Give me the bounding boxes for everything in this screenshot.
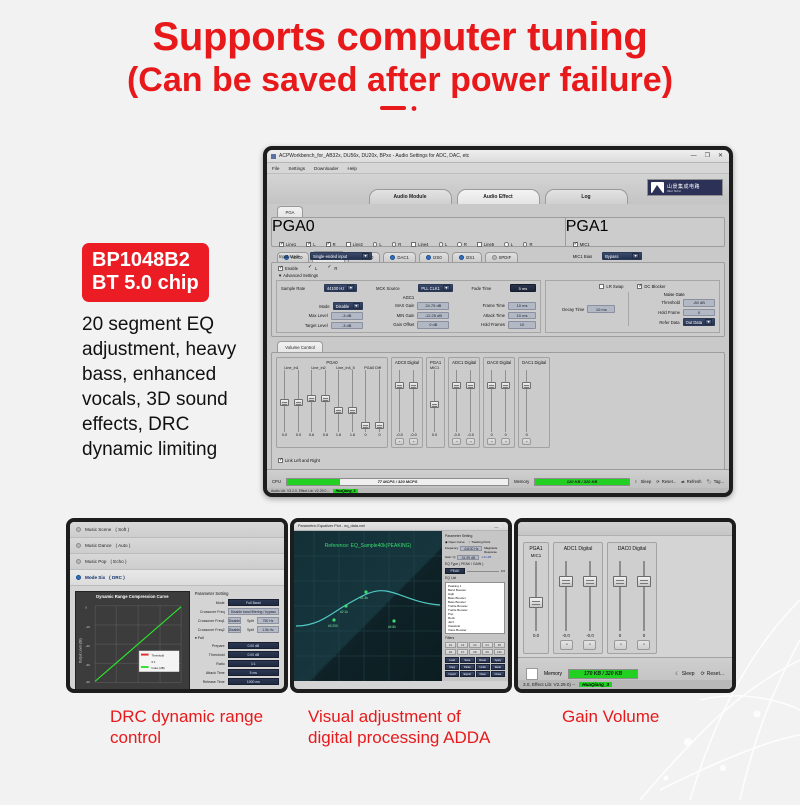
volume-slider[interactable]: 0 [522, 370, 531, 437]
checkbox-mic1[interactable]: MIC1 [573, 242, 590, 247]
status-dot-icon [76, 543, 81, 548]
chevron-down-icon: ▼ [705, 319, 712, 325]
eq-filter-cell[interactable]: F10 [494, 649, 505, 655]
max-gain-field[interactable]: 24.75 dB [417, 302, 449, 310]
gain-value: -0.0 [562, 633, 570, 638]
app-icon [271, 154, 276, 159]
eq-action-button[interactable]: Apply [491, 657, 505, 663]
slider-knob[interactable] [559, 576, 573, 587]
mute-button[interactable]: ◔ [501, 438, 510, 445]
gain-footer-tag: HuaQiang_3 [579, 682, 612, 687]
slider-knob[interactable] [395, 382, 404, 389]
headline-divider [0, 104, 800, 113]
headline-line-2: (Can be saved after power failure) [0, 60, 800, 100]
eq-action-button[interactable]: Save [460, 657, 474, 663]
max-level-field[interactable]: -3 dB [331, 312, 363, 320]
volume-slider[interactable]: 0.0 [430, 370, 439, 437]
adc1-advanced-left: Sample Rate 44100 Hz▼ MCK Source PLL CLK… [276, 280, 541, 333]
svg-text:-20: -20 [86, 644, 91, 648]
frame-time-field[interactable]: 10 ms [508, 302, 536, 310]
slider-knob[interactable] [583, 576, 597, 587]
volume-value: 1.6 [336, 433, 341, 437]
eq-action-button[interactable]: Import [445, 671, 459, 677]
chip-badge: BP1048B2 BT 5.0 chip [82, 243, 209, 302]
volume-group-title: ADC1 Digital [452, 360, 476, 365]
drc-prepare-label: Prepare [195, 644, 225, 648]
drc-crossover2-label: Crossover Freq2 [195, 628, 225, 632]
mute-button[interactable]: ◔ [466, 438, 475, 445]
radio-line4-r[interactable]: R [457, 242, 467, 247]
scene-row-3[interactable]: Music Pop( Echo ) [70, 554, 284, 570]
checkbox-dc-blocker[interactable]: DC Blocker [637, 284, 665, 289]
tab-audio-module[interactable]: Audio Module [369, 189, 452, 204]
eq-window-buttons[interactable]: — ⬜ [494, 524, 504, 529]
checkbox-line2[interactable]: Line2 [346, 242, 363, 247]
volume-slider[interactable]: -0.0 [395, 370, 404, 437]
eq-type-label: EQ Type ( PEAK / GAIN ) [445, 562, 505, 566]
thumbnail-drc[interactable]: Music Scene( Soft ) Music Dance( Auto ) … [66, 518, 288, 693]
menu-bar: File Settings Downloader Help [267, 163, 729, 174]
volume-group: ADC0 Digital -0.0-0.0◔◔ [391, 357, 423, 448]
chevron-down-icon[interactable]: ▼ [362, 253, 369, 259]
volume-control-panel: PGA0Line_in10.00.0Line_in20.60.6Line_in4… [271, 352, 725, 473]
chip-badge-line-2: BT 5.0 chip [92, 272, 199, 295]
drc-release-label: Release Time [195, 680, 225, 684]
input-mode-label: Input Mode [279, 254, 300, 259]
drc-release-field[interactable]: 1000 ms [228, 678, 279, 685]
mountain-icon [651, 182, 664, 193]
checkbox-line4[interactable]: Line4 [411, 242, 428, 247]
volume-slider[interactable]: 0.6 [307, 370, 316, 437]
eq-preset-item[interactable]: High [448, 632, 502, 634]
gain-value: 0.0 [533, 633, 539, 638]
gain-group-sub: MIC1 [529, 553, 543, 558]
volume-value: -0.0 [467, 433, 474, 437]
volume-group: ADC1 Digital -0.0-0.0◔◔ [448, 357, 480, 448]
drc-ratio-field[interactable]: 1:1 [228, 660, 279, 667]
volume-group: PGA1MIC10.0 [426, 357, 445, 448]
gain-status-swatch [526, 668, 538, 680]
frame-time-label: Frame Time [483, 303, 505, 308]
attack-time-label: Attack Time [483, 313, 505, 318]
slider-knob[interactable] [280, 399, 289, 406]
svg-text:#1 3k: #1 3k [360, 596, 368, 600]
checkbox-link-left-right[interactable]: Link Left and Right [278, 458, 320, 463]
eq-open-curve-radio[interactable]: ◉ Open Curve [445, 540, 465, 544]
tag-button[interactable]: 🏷Tag... [706, 479, 724, 485]
sleep-button[interactable]: ☾Sleep [635, 479, 651, 484]
radio-line5-r[interactable]: R [523, 242, 533, 247]
volume-slider[interactable]: -0.0 [466, 370, 475, 437]
volume-value: 0 [364, 433, 366, 437]
mute-button[interactable]: ◔ [560, 640, 573, 650]
svg-text:-40: -40 [86, 680, 91, 684]
slider-knob[interactable] [522, 382, 531, 389]
thumbnail-eq[interactable]: Parametric Equalizer Plot - eq_data.xml … [290, 518, 512, 693]
min-gain-field[interactable]: -12.25 dB [417, 312, 449, 320]
sample-rate-select[interactable]: 44100 Hz▼ [324, 284, 358, 292]
slider-knob[interactable] [348, 407, 357, 414]
eq-frequency-field[interactable]: 44100 Hz [460, 546, 482, 551]
refresh-button[interactable]: ⇄Refresh [681, 479, 701, 484]
pga1-group-label: PGA1 [566, 218, 724, 236]
volume-slider[interactable]: 0.0 [280, 370, 289, 437]
gain-slider[interactable]: 0.0 [529, 561, 543, 638]
mute-button[interactable]: ◔ [395, 438, 404, 445]
gain-memory-text: 170 KB / 320 KB [569, 671, 637, 677]
volume-group-title: PGA0 [280, 360, 384, 365]
volume-value: 0.6 [323, 433, 328, 437]
threshold-field[interactable]: -80 dB [683, 299, 715, 307]
slider-knob[interactable] [487, 382, 496, 389]
sample-rate-label: Sample Rate [281, 286, 305, 291]
headline-block: Supports computer tuning (Can be saved a… [0, 14, 800, 113]
mic1-bias-select[interactable]: Bypass ▼ [602, 252, 642, 260]
tag-icon: 🏷 [706, 479, 711, 485]
acpworkbench-window: ACPWorkbench_for_AB32x, DU56x, DU20x, BP… [263, 146, 733, 497]
svg-text:Reference: EQ_Sample40k(PEAKIN: Reference: EQ_Sample40k(PEAKING) [325, 543, 412, 549]
mute-button[interactable]: ◔ [614, 640, 627, 650]
eq-frequency-response-plot[interactable]: Reference: EQ_Sample40k(PEAKING) #1 3k#2… [294, 531, 442, 681]
mute-button[interactable]: ◔ [487, 438, 496, 445]
eq-preset-list[interactable]: Peaking 1Band BoosterHighBass BoosterBas… [445, 582, 505, 634]
minimize-button[interactable]: — [691, 153, 697, 159]
refer-data-label: Refer Data [659, 320, 679, 325]
gain-offset-label: Gain Offset [393, 322, 414, 327]
status-dot-icon [76, 527, 81, 532]
drc-crossover-field[interactable]: Disable band filtering / bypass [228, 608, 279, 615]
gain-slider[interactable]: 0 [613, 561, 627, 638]
gain-reset-button[interactable]: ⟳Reset... [701, 671, 724, 677]
checkbox-line5[interactable]: Line5 [477, 242, 494, 247]
attack-time-field[interactable]: 10 ms [508, 312, 536, 320]
eq-response-label: Magnitude Response [484, 546, 505, 554]
noise-gate-title: Noise Gate [634, 292, 715, 297]
eq-tracking-point-radio[interactable]: ○ Tracking Point [469, 540, 491, 544]
eq-window-titlebar: Parametric Equalizer Plot - eq_data.xml … [294, 522, 508, 531]
eq-filter-cell[interactable]: F6 [445, 649, 456, 655]
chevron-down-icon: ▼ [443, 285, 450, 291]
drc-split1-label: Split [244, 619, 254, 623]
menu-item-help[interactable]: Help [348, 166, 357, 171]
slider-knob[interactable] [452, 382, 461, 389]
volume-group: PGA0Line_in10.00.0Line_in20.60.6Line_in4… [276, 357, 388, 448]
window-titlebar: ACPWorkbench_for_AB32x, DU56x, DU20x, BP… [267, 150, 729, 163]
radio-line2-l[interactable]: L [373, 242, 382, 247]
eq-action-button[interactable]: Close [491, 671, 505, 677]
drc-prepare-field[interactable]: 0.00 dB [228, 642, 279, 649]
slider-knob[interactable] [637, 576, 651, 587]
drc-split2-field[interactable]: 1.5k Hz [257, 626, 279, 633]
gain-group: PGA1MIC10.0 [523, 542, 549, 654]
pga-tabstrip: PGA [271, 206, 725, 217]
volume-slider[interactable]: 0 [487, 370, 496, 437]
drc-split1-field[interactable]: 750 Hz [257, 617, 279, 624]
volume-group-title: ADC0 Digital [395, 360, 419, 365]
decay-time-field[interactable]: 10 ms [587, 305, 615, 313]
eq-filter-cell[interactable]: F9 [482, 649, 493, 655]
menu-item-file[interactable]: File [272, 166, 279, 171]
min-gain-label: MIN Gain [397, 313, 415, 318]
eq-filter-cell[interactable]: F2 [457, 642, 468, 648]
slider-knob[interactable] [361, 422, 370, 429]
hold-frames-label: Hold Frames [481, 322, 505, 327]
eq-type-field[interactable]: PEAK [445, 568, 465, 574]
volume-slider[interactable]: 0.6 [321, 370, 330, 437]
svg-text:-30: -30 [86, 663, 91, 667]
volume-slider[interactable]: -0.0 [452, 370, 461, 437]
checkbox-enable-r[interactable]: R [327, 266, 337, 271]
volume-value: 0.0 [432, 433, 437, 437]
drc-threshold-label: Threshold [195, 653, 225, 657]
eq-frequency-label: Frequency [445, 546, 458, 554]
maximize-button[interactable]: ❐ [705, 153, 710, 159]
volume-value: -0.0 [410, 433, 417, 437]
slider-knob[interactable] [613, 576, 627, 587]
footer-bar: Audio Lib: V3.2.0, Effect Lib: V2.29.0 -… [267, 488, 729, 493]
headline-line-1: Supports computer tuning [0, 14, 800, 60]
volume-slider[interactable]: 0 [361, 370, 370, 437]
eq-action-button[interactable]: Reset [476, 657, 490, 663]
scene-row-4[interactable]: Mode Six( DRC ) [70, 570, 284, 586]
scene-row-2[interactable]: Music Dance( Auto ) [70, 538, 284, 554]
volume-value: -0.0 [453, 433, 460, 437]
eq-filter-cell[interactable]: F3 [469, 642, 480, 648]
volume-value: 0.0 [296, 433, 301, 437]
tab-log[interactable]: Log [545, 189, 628, 204]
reset-icon: ⟳ [656, 479, 660, 484]
mute-button[interactable]: ◔ [583, 640, 596, 650]
eq-filter-cell[interactable]: F8 [469, 649, 480, 655]
mck-source-label: MCK Source [376, 286, 400, 291]
eq-filter-grid[interactable]: F1F2F3F4F5F6F7F8F9F10 [445, 642, 505, 655]
slider-knob[interactable] [529, 597, 543, 608]
gain-status-bar: Memory 170 KB / 320 KB ☾Sleep ⟳Reset... … [518, 657, 732, 689]
checkbox-enable-l[interactable]: L [308, 266, 317, 271]
gain-memory-meter: 170 KB / 320 KB [568, 669, 638, 679]
checkbox-lr-swap[interactable]: LR Swap [599, 284, 623, 289]
hold-frames-field[interactable]: 10 [508, 321, 536, 329]
target-level-label: Target Level [305, 323, 328, 328]
slider-knob[interactable] [409, 382, 418, 389]
chevron-down-icon[interactable]: ▼ [632, 253, 639, 259]
slider-knob[interactable] [466, 382, 475, 389]
drc-ratio-label: Ratio [195, 662, 225, 666]
tab-volume-control[interactable]: Volume Control [277, 341, 323, 352]
gain-volume-groups: PGA1MIC10.0ADC1 Digital -0.0-0.0◔◔DAC0 D… [518, 536, 732, 654]
mck-source-select[interactable]: PLL CLK1▼ [418, 284, 453, 292]
reset-button[interactable]: ⟳Reset... [656, 479, 676, 484]
tab-pga[interactable]: PGA [277, 206, 303, 217]
refer-data-select[interactable]: Out Data▼ [683, 318, 715, 326]
gain-slider[interactable]: -0.0 [583, 561, 597, 638]
radio-line2-r[interactable]: R [392, 242, 402, 247]
close-button[interactable]: ✕ [718, 153, 723, 159]
main-tab-bar: Audio Module Audio Effect Log 山景集成电路 JIE… [267, 174, 729, 204]
gain-value: 0 [619, 633, 621, 638]
gain-window-header [518, 522, 732, 536]
gain-group-sub [613, 553, 651, 558]
volume-groups: PGA0Line_in10.00.0Line_in20.60.6Line_in4… [272, 353, 724, 450]
volume-slider[interactable]: -0.0 [409, 370, 418, 437]
slider-knob[interactable] [375, 422, 384, 429]
mute-button[interactable]: ◔ [637, 640, 650, 650]
volume-value: 0 [526, 433, 528, 437]
gain-sleep-button[interactable]: ☾Sleep [675, 671, 694, 677]
eq-window-title: Parametric Equalizer Plot - eq_data.xml [298, 524, 365, 528]
memory-meter: 120 KB / 320 KB [534, 478, 630, 486]
volume-value: 0 [378, 433, 380, 437]
chevron-down-icon: ▼ [353, 303, 360, 309]
mute-button[interactable]: ◔ [409, 438, 418, 445]
eq-action-button[interactable]: Load [445, 657, 459, 663]
eq-action-button[interactable]: Redo [491, 664, 505, 670]
eq-button-grid[interactable]: LoadSaveResetApplyCopyPasteUndoRedoImpor… [445, 657, 505, 677]
window-title: ACPWorkbench_for_AB32x, DU56x, DU20x, BP… [279, 153, 691, 159]
mute-button[interactable]: ◔ [522, 438, 531, 445]
status-dot-icon [76, 559, 81, 564]
gain-group: ADC1 Digital -0.0-0.0◔◔ [553, 542, 603, 654]
gain-group-title: ADC1 Digital [559, 546, 597, 552]
slider-knob[interactable] [501, 382, 510, 389]
svg-text:Index (dB): Index (dB) [151, 666, 164, 670]
eq-action-button[interactable]: Copy [445, 664, 459, 670]
input-mode-select[interactable]: Single-ended input ▼ [310, 252, 372, 260]
reset-icon: ⟳ [701, 671, 705, 677]
drc-threshold-field[interactable]: 0.00 dB [228, 651, 279, 658]
gain-offset-field[interactable]: 0 dB [417, 321, 449, 329]
vendor-logo: 山景集成电路 JIELI TECH [647, 179, 723, 196]
fade-time-field[interactable]: 5 ms [510, 284, 536, 292]
volume-group-title: DAC0 Digital [487, 360, 511, 365]
hold-frame-label: Hold Frame [658, 310, 680, 315]
cpu-meter-text: 77 MCPS / 320 MCPS [287, 479, 508, 484]
eq-slider-track[interactable] [467, 571, 499, 572]
slider-knob[interactable] [430, 401, 439, 408]
volume-slider[interactable]: 0 [375, 370, 384, 437]
drc-mode-label: Mode [195, 601, 225, 605]
volume-value: -0.0 [396, 433, 403, 437]
gain-slider[interactable]: -0.0 [559, 561, 573, 638]
eq-list-label: EQ List [445, 576, 505, 580]
eq-slider-value: 0.0 [501, 569, 505, 573]
checkbox-line1[interactable]: Line1 [279, 242, 296, 247]
status-dot-icon [76, 575, 81, 580]
eq-filters-label: Filters [445, 636, 505, 640]
radio-line4-l[interactable]: L [439, 242, 448, 247]
eq-action-button[interactable]: Paste [460, 664, 474, 670]
memory-meter-text: 120 KB / 320 KB [535, 479, 629, 484]
caption-row: DRC dynamic range control Visual adjustm… [0, 706, 800, 796]
pga0-group-label: PGA0 [272, 218, 565, 236]
decay-time-label: Decay Time [562, 307, 584, 312]
vendor-logo-text: 山景集成电路 JIELI TECH [667, 183, 700, 193]
drc-mode-select[interactable]: Full Band [228, 599, 279, 606]
drc-crossover-label: Crossover Freq [195, 610, 225, 614]
eq-parameter-header: Parameter Setting [445, 534, 505, 538]
drc-attack-field[interactable]: 5 ms [228, 669, 279, 676]
gain-value: 0 [643, 633, 645, 638]
eq-gain-secondary: 1.41 dB [481, 555, 491, 560]
svg-text:#3 200: #3 200 [328, 624, 338, 628]
target-level-field[interactable]: -3 dB [331, 322, 363, 330]
drc-crossover2-field[interactable]: Disable [228, 626, 241, 633]
threshold-label: Threshold [661, 300, 680, 305]
gain-memory-label: Memory [544, 671, 562, 677]
checkbox-enable[interactable]: Enable [278, 266, 298, 271]
checkbox-line1-r[interactable]: R [326, 242, 336, 247]
mode-label: Mode [319, 304, 329, 309]
menu-item-settings[interactable]: Settings [288, 166, 305, 171]
mute-button[interactable]: ◔ [452, 438, 461, 445]
gain-slider[interactable]: 0 [637, 561, 651, 638]
moon-icon: ☾ [675, 671, 679, 677]
eq-action-button[interactable]: Undo [476, 664, 490, 670]
advanced-settings-toggle[interactable]: ▼ Advanced Settings [276, 271, 720, 280]
drc-attack-label: Attack Time [195, 671, 225, 675]
gain-footer-bar: 3.0, Effect Lib: V2.29.0) -- HuaQiang_3 [518, 680, 732, 689]
refresh-icon: ⇄ [681, 479, 685, 484]
slider-knob[interactable] [307, 395, 316, 402]
scene-row-1[interactable]: Music Scene( Soft ) [70, 522, 284, 538]
radio-line5-l[interactable]: L [504, 242, 513, 247]
adc1-settings-panel: Enable L R ▼ Advanced Settings Sample Ra… [271, 262, 725, 337]
volume-slider[interactable]: 0 [501, 370, 510, 437]
footer-tag-badge: HuaQiang_3 [333, 489, 359, 493]
thumbnail-gain-volume[interactable]: PGA1MIC10.0ADC1 Digital -0.0-0.0◔◔DAC0 D… [514, 518, 736, 693]
volume-value: 1.6 [350, 433, 355, 437]
volume-group: DAC0 Digital 00◔◔ [483, 357, 515, 448]
agc-mode-select[interactable]: Disable▼ [333, 302, 363, 310]
eq-filter-cell[interactable]: F1 [445, 642, 456, 648]
mic1-bias-label: MIC1 Bias [573, 254, 592, 259]
drc-band-label[interactable]: ● Full [195, 636, 279, 640]
cpu-meter: 77 MCPS / 320 MCPS [286, 478, 509, 486]
caption-eq: Visual adjustment of digital processing … [308, 706, 508, 748]
drc-parameter-panel: Parameter Setting Mode Full Band Crossov… [195, 591, 279, 693]
gain-value: -0.0 [586, 633, 594, 638]
slider-knob[interactable] [334, 407, 343, 414]
eq-filter-cell[interactable]: F4 [482, 642, 493, 648]
status-bar: CPU 77 MCPS / 320 MCPS Memory 120 KB / 3… [267, 469, 729, 493]
menu-item-downloader[interactable]: Downloader [314, 166, 339, 171]
svg-text:#2 1k: #2 1k [340, 610, 348, 614]
eq-filter-cell[interactable]: F7 [457, 649, 468, 655]
checkbox-line1-l[interactable]: L [306, 242, 315, 247]
svg-text:#4 8k: #4 8k [388, 625, 396, 629]
eq-action-button[interactable]: Clear [476, 671, 490, 677]
eq-gain-field[interactable]: 31.99 dB [457, 555, 479, 560]
volume-slider[interactable]: 0.0 [294, 370, 303, 437]
volume-value: 0.6 [309, 433, 314, 437]
volume-slider[interactable]: 1.6 [334, 370, 343, 437]
hold-frame-field[interactable]: 0 [683, 309, 715, 317]
drc-crossover1-field[interactable]: Disable [228, 617, 241, 624]
eq-filter-cell[interactable]: F5 [494, 642, 505, 648]
eq-parameter-panel: Parameter Setting ◉ Open Curve ○ Trackin… [442, 531, 508, 681]
eq-action-button[interactable]: Export [460, 671, 474, 677]
slider-knob[interactable] [321, 395, 330, 402]
gain-group: DAC0 Digital 00◔◔ [607, 542, 657, 654]
left-info-column: BP1048B2 BT 5.0 chip 20 segment EQ adjus… [82, 243, 247, 462]
slider-knob[interactable] [294, 399, 303, 406]
gain-group-title: PGA1 [529, 546, 543, 552]
volume-slider[interactable]: 1.6 [348, 370, 357, 437]
adc1-advanced-right: LR Swap DC Blocker Decay Time 10 ms Nois… [545, 280, 720, 333]
volume-value: 0.0 [282, 433, 287, 437]
tab-audio-effect[interactable]: Audio Effect [457, 189, 540, 204]
chevron-down-icon: ▼ [347, 285, 354, 291]
